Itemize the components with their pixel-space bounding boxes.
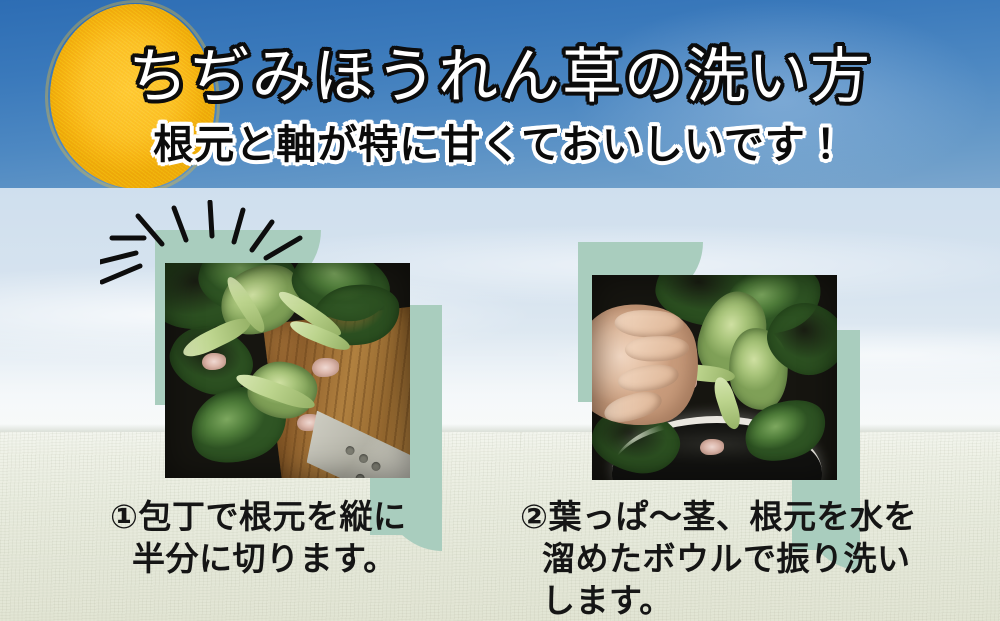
step-1-caption-line-2: 半分に切ります。 <box>110 538 530 580</box>
step-2-photo <box>592 275 837 480</box>
step-2-caption-line-1: ②葉っぱ～茎、根元を水を <box>520 497 917 536</box>
page-title: ちぢみほうれん草の洗い方 <box>0 44 1000 110</box>
photo-vignette <box>592 275 837 480</box>
step-1-caption: ①包丁で根元を縦に 半分に切ります。 <box>110 496 530 580</box>
header-banner: ちぢみほうれん草の洗い方 根元と軸が特に甘くておいしいです！ <box>0 0 1000 188</box>
step-2-caption-line-3: します。 <box>520 580 940 621</box>
step-2-caption: ②葉っぱ～茎、根元を水を 溜めたボウルで振り洗い します。 <box>520 496 940 621</box>
poster-canvas: ちぢみほうれん草の洗い方 根元と軸が特に甘くておいしいです！ <box>0 0 1000 621</box>
step-1-photo <box>165 263 410 478</box>
photo-vignette <box>165 263 410 478</box>
step-1-caption-line-1: ①包丁で根元を縦に <box>110 497 406 536</box>
step-2-caption-line-2: 溜めたボウルで振り洗い <box>520 538 940 580</box>
page-subtitle: 根元と軸が特に甘くておいしいです！ <box>0 122 1000 168</box>
